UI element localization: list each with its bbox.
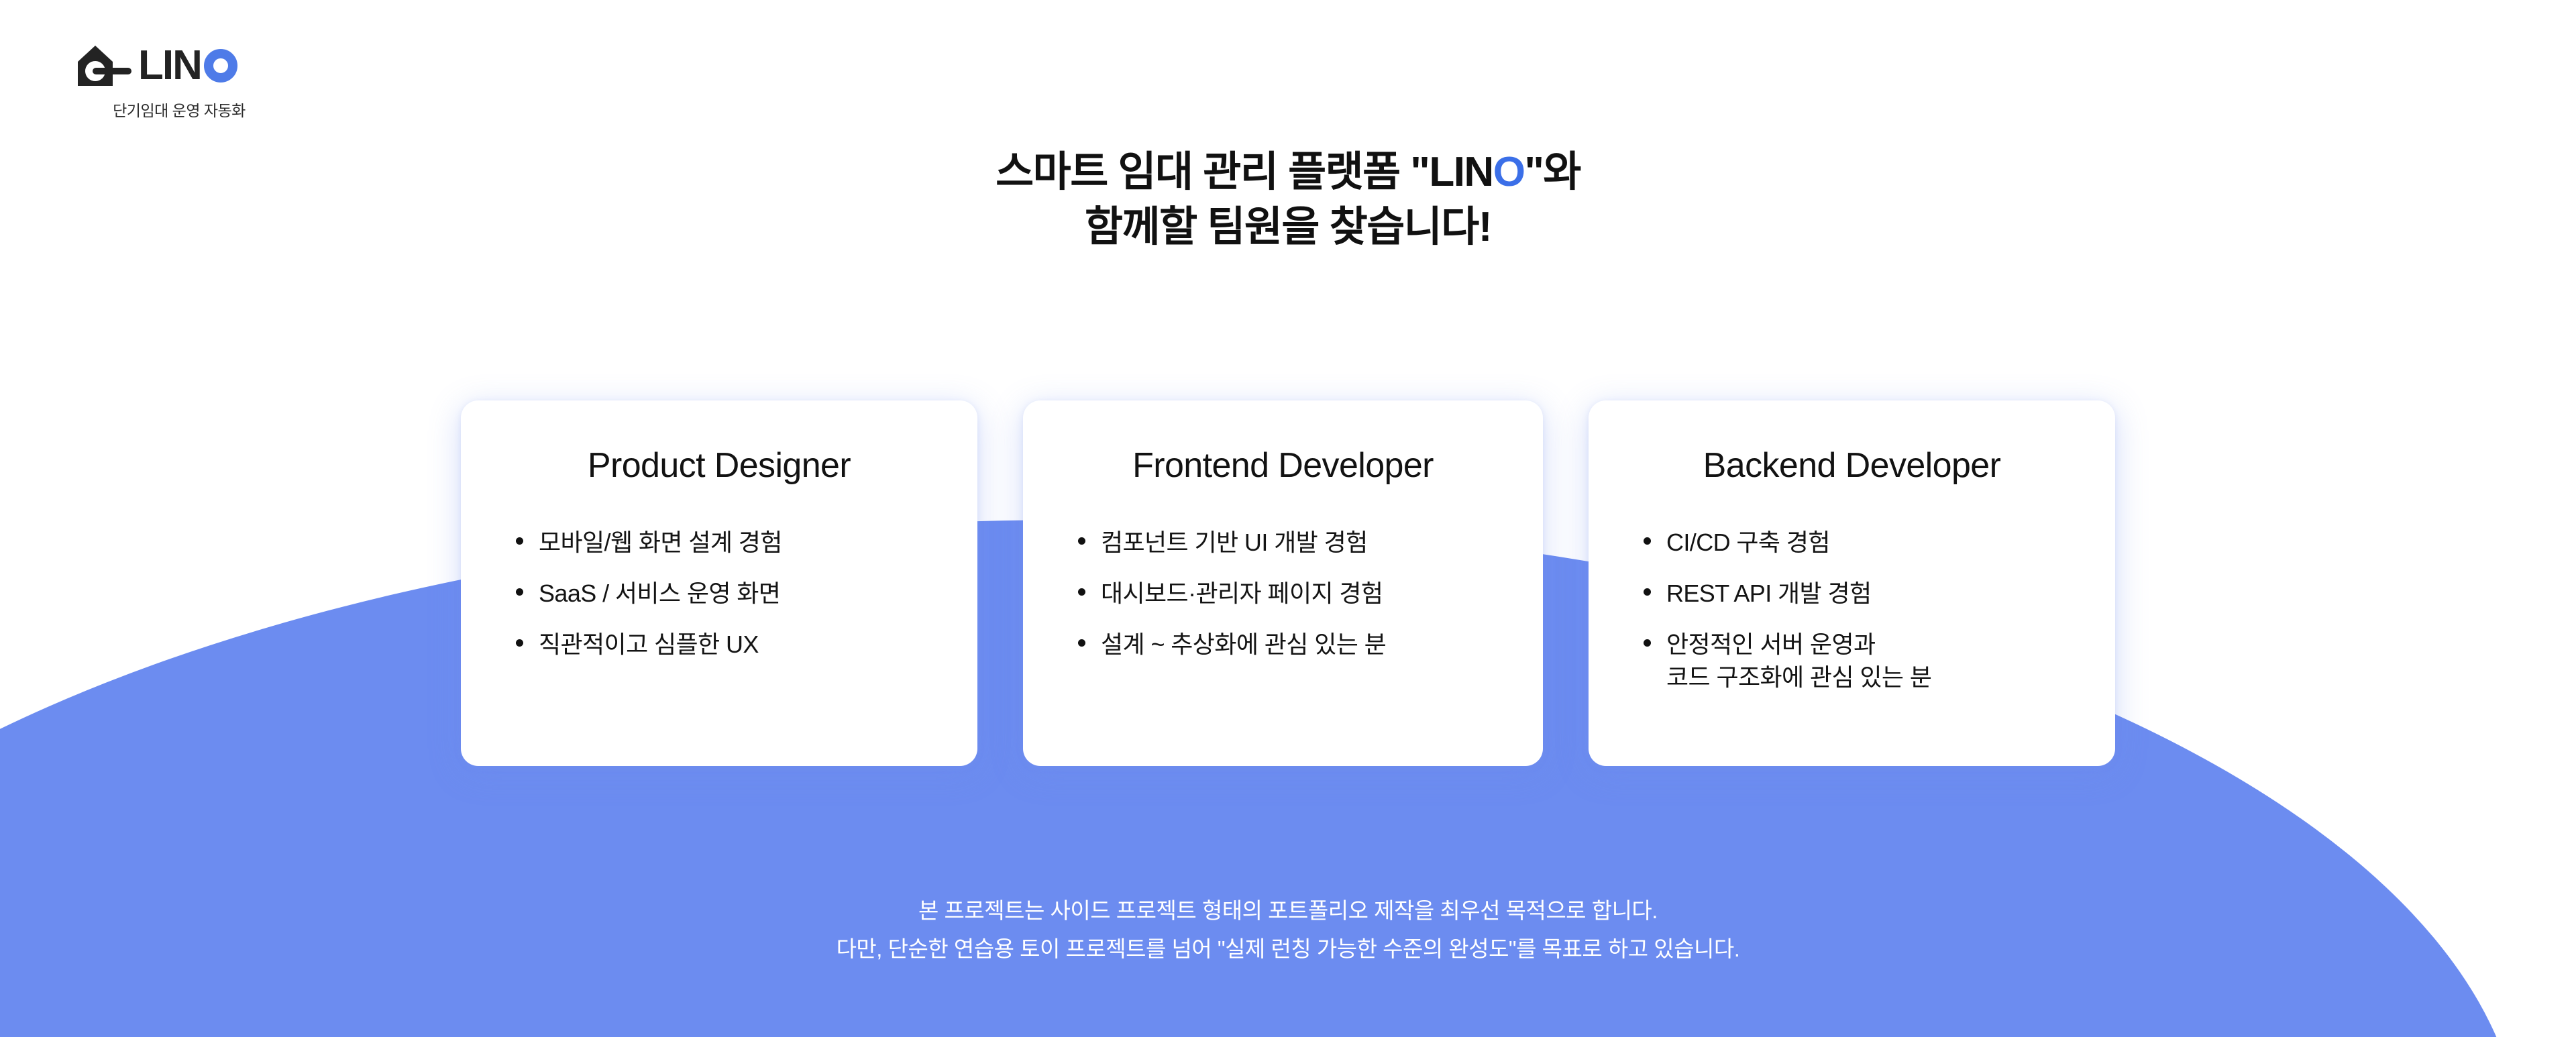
list-item: 모바일/웹 화면 설계 경험 (513, 527, 948, 559)
list-item-line1: 모바일/웹 화면 설계 경험 (539, 529, 782, 556)
role-card-backend-developer[interactable]: Backend Developer CI/CD 구축 경험 REST API 개… (1589, 400, 2115, 766)
bullet-dot-icon (516, 639, 523, 647)
headline-line1: 스마트 임대 관리 플랫폼 "LINO"와 (996, 149, 1580, 195)
list-item-line2: 코드 구조화에 관심 있는 분 (1666, 661, 2086, 694)
bullet-dot-icon (1078, 537, 1085, 545)
role-requirement-list: CI/CD 구축 경험 REST API 개발 경험 안정적인 서버 운영과 코… (1618, 527, 2086, 694)
list-item: CI/CD 구축 경험 (1641, 527, 2086, 559)
role-card-title: Product Designer (490, 446, 948, 486)
role-card-title: Backend Developer (1618, 446, 2086, 486)
bullet-dot-icon (1078, 588, 1085, 596)
role-card-list: Product Designer 모바일/웹 화면 설계 경험 SaaS / 서… (0, 400, 2576, 766)
list-item-line1: 컴포넌트 기반 UI 개발 경험 (1101, 529, 1368, 556)
list-item-line1: SaaS / 서비스 운영 화면 (539, 580, 780, 607)
list-item: 안정적인 서버 운영과 코드 구조화에 관심 있는 분 (1641, 629, 2086, 693)
footer-note: 본 프로젝트는 사이드 프로젝트 형태의 포트폴리오 제작을 최우선 목적으로 … (0, 892, 2576, 969)
headline-accent-o: O (1493, 149, 1525, 195)
role-requirement-list: 모바일/웹 화면 설계 경험 SaaS / 서비스 운영 화면 직관적이고 심플… (490, 527, 948, 661)
bullet-dot-icon (516, 588, 523, 596)
brand-logo[interactable]: LIN 단기임대 운영 자동화 (72, 40, 294, 121)
logo-tagline: 단기임대 운영 자동화 (68, 98, 290, 121)
role-card-frontend-developer[interactable]: Frontend Developer 컴포넌트 기반 UI 개발 경험 대시보드… (1023, 400, 1543, 766)
footer-line-2: 다만, 단순한 연습용 토이 프로젝트를 넘어 "실제 런칭 가능한 수준의 완… (0, 930, 2576, 969)
list-item: 대시보드·관리자 페이지 경험 (1075, 578, 1513, 610)
bullet-dot-icon (516, 537, 523, 545)
recruiting-poster: LIN 단기임대 운영 자동화 스마트 임대 관리 플랫폼 "LINO"와 함께… (0, 0, 2576, 1037)
list-item: 컴포넌트 기반 UI 개발 경험 (1075, 527, 1513, 559)
role-card-product-designer[interactable]: Product Designer 모바일/웹 화면 설계 경험 SaaS / 서… (461, 400, 977, 766)
list-item: 직관적이고 심플한 UX (513, 629, 948, 661)
headline-line1-before: 스마트 임대 관리 플랫폼 "LIN (996, 149, 1493, 195)
bullet-dot-icon (1644, 639, 1651, 647)
role-card-title: Frontend Developer (1053, 446, 1513, 486)
list-item: REST API 개발 경험 (1641, 578, 2086, 610)
list-item: SaaS / 서비스 운영 화면 (513, 578, 948, 610)
bullet-dot-icon (1078, 639, 1085, 647)
bullet-dot-icon (1644, 588, 1651, 596)
role-requirement-list: 컴포넌트 기반 UI 개발 경험 대시보드·관리자 페이지 경험 설계 ~ 추상… (1053, 527, 1513, 661)
list-item-line1: 대시보드·관리자 페이지 경험 (1101, 580, 1383, 607)
logo-word-dark: LIN (138, 45, 201, 87)
house-key-icon (72, 42, 137, 90)
logo-row: LIN (72, 40, 294, 91)
headline-line2: 함께할 팀원을 찾습니다! (0, 200, 2576, 255)
list-item-line1: 직관적이고 심플한 UX (539, 631, 759, 658)
bullet-dot-icon (1644, 537, 1651, 545)
logo-wordmark: LIN (138, 45, 237, 87)
page-headline: 스마트 임대 관리 플랫폼 "LINO"와 함께할 팀원을 찾습니다! (0, 145, 2576, 255)
list-item-line1: 안정적인 서버 운영과 (1666, 631, 1875, 658)
list-item-line1: CI/CD 구축 경험 (1666, 529, 1830, 556)
logo-accent-o-icon (204, 49, 237, 83)
list-item: 설계 ~ 추상화에 관심 있는 분 (1075, 629, 1513, 661)
footer-line-1: 본 프로젝트는 사이드 프로젝트 형태의 포트폴리오 제작을 최우선 목적으로 … (0, 892, 2576, 930)
list-item-line1: 설계 ~ 추상화에 관심 있는 분 (1101, 631, 1386, 658)
headline-line1-after: "와 (1524, 149, 1580, 195)
list-item-line1: REST API 개발 경험 (1666, 580, 1872, 607)
